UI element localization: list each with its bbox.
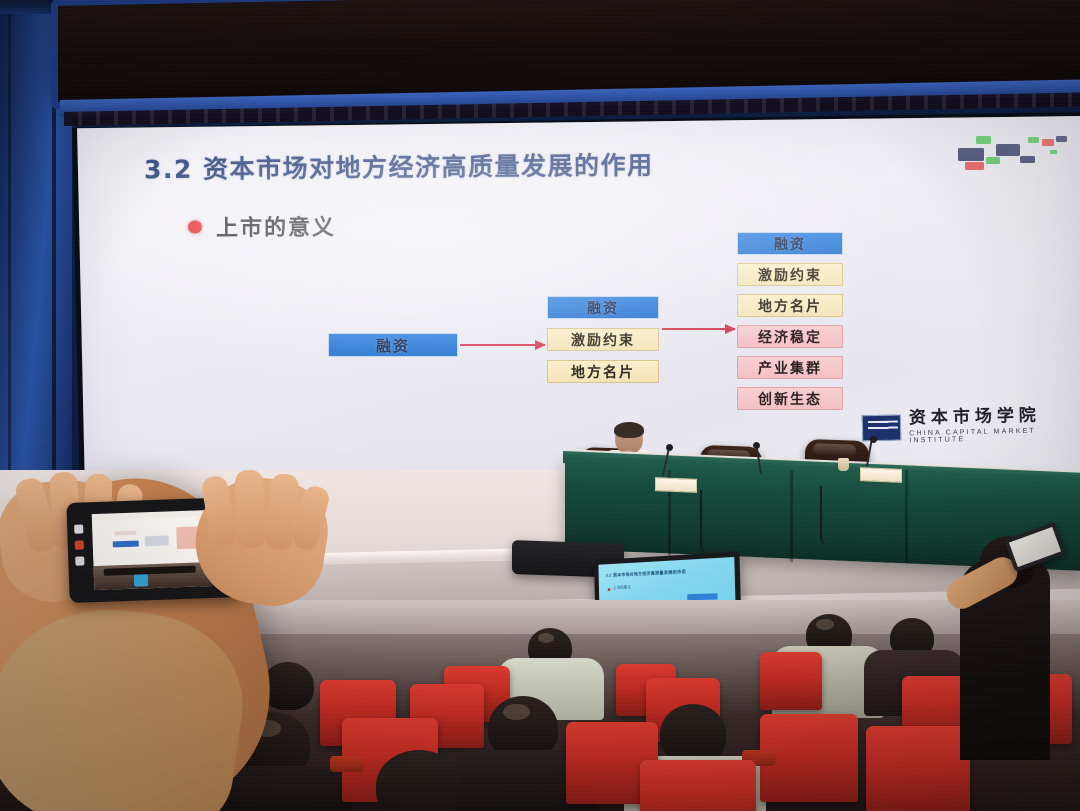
audience-seat bbox=[640, 760, 756, 811]
table-cloth-seam bbox=[790, 470, 793, 562]
seat-armrest bbox=[330, 756, 364, 772]
name-card: · · bbox=[860, 467, 902, 483]
institute-logo-mark bbox=[868, 421, 898, 436]
monitor-bullet-text: 上市的意义 bbox=[613, 584, 631, 591]
audience-head bbox=[660, 704, 726, 764]
microphone-head bbox=[870, 436, 877, 443]
monitor-title: 3.2 资本市场对地方经济高质量发展的作用 bbox=[606, 569, 687, 579]
table-cloth-seam bbox=[905, 470, 908, 562]
photo-scene: 3.2 资本市场对地方经济高质量发展的作用 上市的意义 融资融资激励约束地方名片… bbox=[0, 0, 1080, 811]
institute-logo-icon bbox=[862, 414, 902, 441]
phone-person-preview bbox=[134, 574, 148, 586]
phone-side-controls[interactable] bbox=[74, 524, 85, 572]
phone-slide-node bbox=[114, 531, 136, 536]
finger bbox=[235, 470, 266, 549]
speaker-hair bbox=[614, 422, 644, 438]
microphone-head bbox=[753, 442, 760, 449]
audience-head bbox=[376, 750, 462, 811]
phone-slide-node bbox=[113, 541, 139, 548]
cable bbox=[820, 486, 856, 546]
tea-cup bbox=[838, 458, 849, 471]
institute-name-en: CHINA CAPITAL MARKET INSTITUTE bbox=[909, 427, 1080, 445]
head-sheen bbox=[538, 633, 555, 643]
microphone-head bbox=[666, 444, 673, 451]
audience-seat bbox=[866, 726, 970, 811]
name-card: · · bbox=[655, 477, 697, 493]
head-sheen bbox=[503, 704, 530, 721]
chair-gloss bbox=[813, 444, 857, 457]
wall-seam-left bbox=[52, 0, 56, 520]
phone-control-dot bbox=[75, 540, 84, 549]
phone-control-dot bbox=[74, 524, 83, 533]
institute-name-cn: 资本市场学院 bbox=[909, 407, 1080, 428]
cable bbox=[700, 490, 742, 554]
phone-control-dot bbox=[75, 556, 84, 565]
monitor-bullet-dot-icon bbox=[608, 588, 611, 591]
wall-seam-left-2 bbox=[8, 0, 11, 500]
phone-slide-node bbox=[145, 535, 169, 546]
name-card-text: · · bbox=[861, 468, 901, 482]
institute-banner: 资本市场学院 CHINA CAPITAL MARKET INSTITUTE bbox=[862, 404, 1080, 449]
name-card-text: · · bbox=[656, 478, 696, 492]
head-sheen bbox=[816, 619, 833, 630]
audience-seat bbox=[760, 652, 822, 710]
